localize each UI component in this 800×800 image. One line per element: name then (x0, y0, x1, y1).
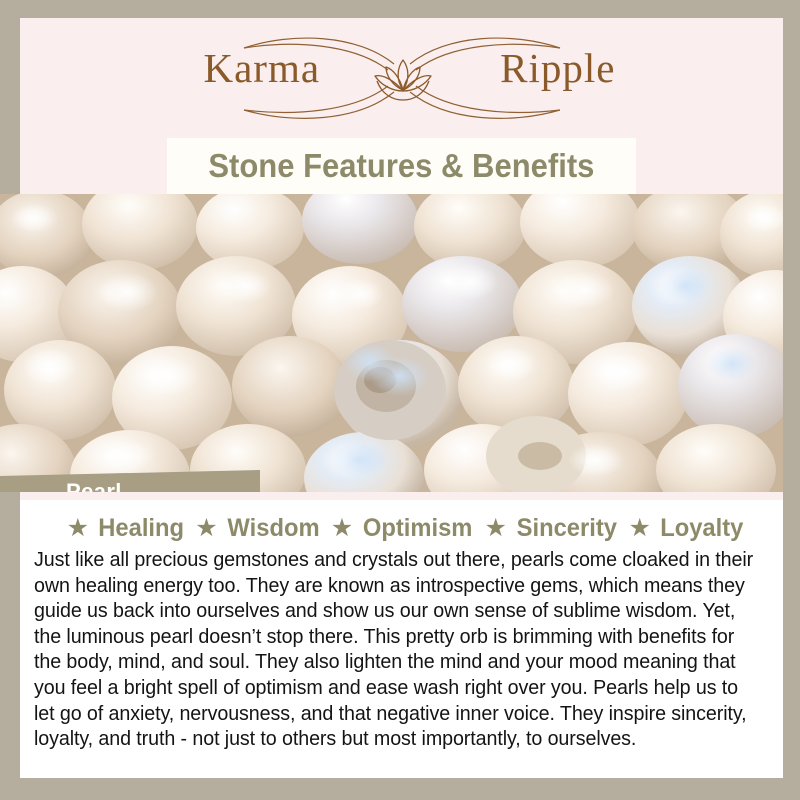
pearl-photo-image (0, 194, 783, 492)
benefit-item-wisdom: ★ Wisdom (186, 514, 321, 543)
benefit-label: Loyalty (660, 514, 743, 543)
benefit-item-sincerity: ★ Sincerity (475, 514, 619, 543)
star-icon: ★ (67, 516, 89, 541)
page-title: Stone Features & Benefits (208, 147, 594, 185)
content-card: Karma Ripple Stone Features & Benefits (20, 18, 783, 778)
pearl-photo: Pearl (0, 194, 783, 492)
benefit-item-healing: ★ Healing (58, 514, 187, 543)
benefit-label: Wisdom (227, 514, 319, 543)
benefit-label: Healing (98, 514, 184, 543)
infographic-page: Karma Ripple Stone Features & Benefits (0, 0, 800, 800)
star-icon: ★ (331, 516, 353, 541)
stone-name-ribbon: Pearl (0, 470, 260, 492)
section-title-band: Stone Features & Benefits (167, 138, 636, 194)
benefit-item-loyalty: ★ Loyalty (619, 514, 745, 543)
description-panel: ★ Healing ★ Wisdom ★ Optimism ★ Sincerit… (20, 500, 783, 778)
stone-name-label: Pearl (66, 479, 122, 492)
brand-word-karma: Karma (204, 44, 321, 92)
benefits-list: ★ Healing ★ Wisdom ★ Optimism ★ Sincerit… (34, 510, 769, 546)
star-icon: ★ (484, 516, 506, 541)
star-icon: ★ (628, 516, 650, 541)
star-icon: ★ (195, 516, 217, 541)
description-text: Just like all precious gemstones and cry… (34, 548, 764, 753)
lotus-icon (370, 54, 436, 106)
brand-logo: Karma Ripple (20, 30, 783, 140)
benefit-label: Optimism (363, 514, 473, 543)
ribbon-background (0, 470, 260, 492)
benefit-item-optimism: ★ Optimism (322, 514, 476, 543)
benefit-label: Sincerity (516, 514, 616, 543)
brand-word-ripple: Ripple (500, 44, 615, 92)
